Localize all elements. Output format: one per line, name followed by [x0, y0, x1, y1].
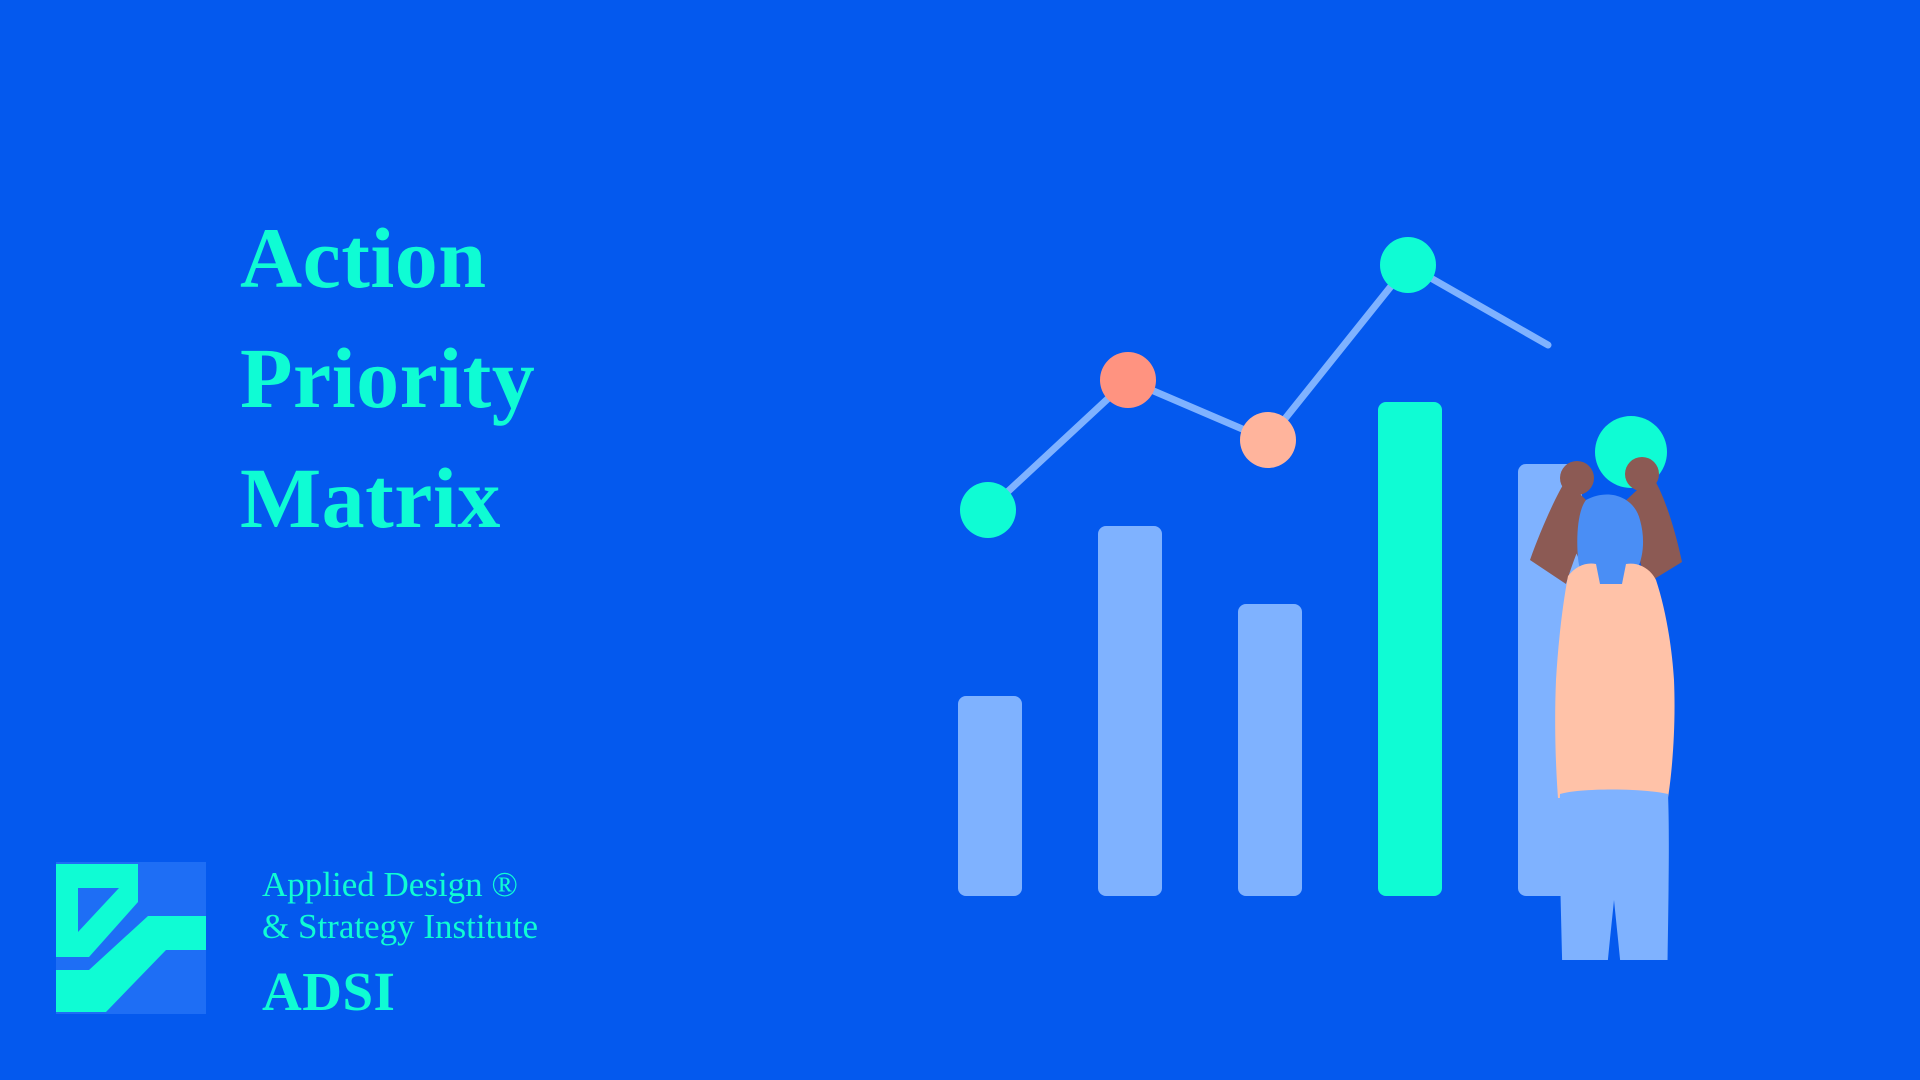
pants	[1559, 790, 1668, 961]
brand-acronym: ADSI	[262, 962, 538, 1022]
brand-name-line-2: & Strategy Institute	[262, 906, 538, 948]
trend-markers	[960, 237, 1436, 538]
marker-4	[1380, 237, 1436, 293]
bar-series	[958, 402, 1582, 896]
bar-2	[1098, 526, 1162, 896]
brand-name-line-1: Applied Design ®	[262, 864, 538, 906]
bar-4-highlight	[1378, 402, 1442, 896]
marker-3	[1240, 412, 1296, 468]
chart-illustration	[880, 180, 1840, 960]
torso-shirt	[1555, 564, 1674, 799]
right-hand	[1625, 457, 1659, 491]
bar-3	[1238, 604, 1302, 896]
slide-canvas: Action Priority Matrix Applied Design ® …	[0, 0, 1920, 1080]
page-title: Action Priority Matrix	[240, 198, 860, 558]
title-line-1: Action	[240, 198, 860, 318]
brand-text: Applied Design ® & Strategy Institute AD…	[262, 862, 538, 1022]
title-line-2: Priority	[240, 318, 860, 438]
left-hand	[1560, 461, 1594, 495]
trend-line	[988, 265, 1548, 510]
title-line-3: Matrix	[240, 438, 860, 558]
marker-1	[960, 482, 1016, 538]
marker-2	[1100, 352, 1156, 408]
bar-1	[958, 696, 1022, 896]
adsi-logo-mark	[56, 862, 206, 1014]
brand-lockup: Applied Design ® & Strategy Institute AD…	[56, 862, 538, 1022]
